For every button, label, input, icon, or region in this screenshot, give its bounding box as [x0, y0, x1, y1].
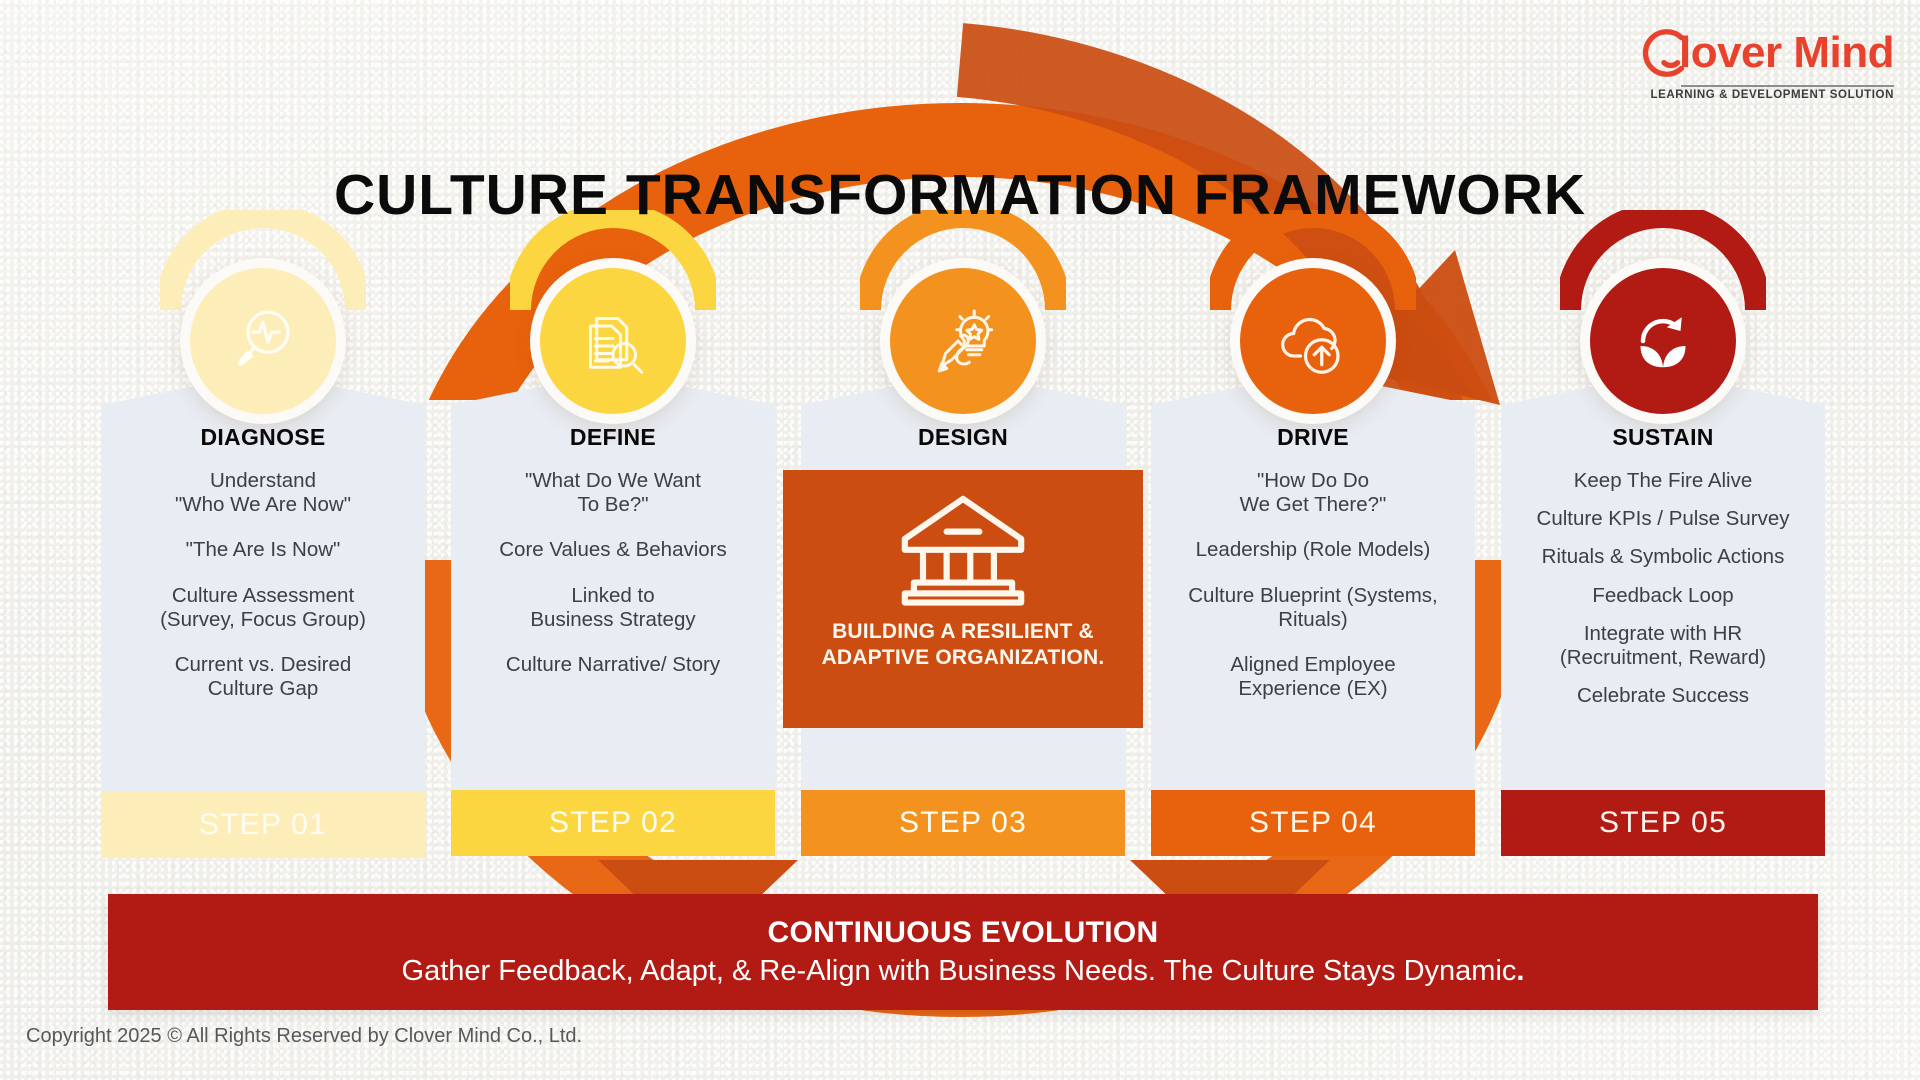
document-search-icon — [540, 268, 686, 414]
bullet-item: Culture KPIs / Pulse Survey — [1515, 507, 1811, 531]
bullet-item: Linked to Business Strategy — [465, 584, 761, 632]
bullet-item: "The Are Is Now" — [115, 538, 411, 562]
step-label-bar-1[interactable]: STEP 01 — [101, 792, 425, 858]
step-label-bar-4[interactable]: STEP 04 — [1151, 790, 1475, 856]
bullet-item: Understand "Who We Are Now" — [115, 469, 411, 517]
step-bullets: "How Do Do We Get There?"Leadership (Rol… — [1151, 469, 1475, 701]
continuous-evolution-banner: CONTINUOUS EVOLUTION Gather Feedback, Ad… — [108, 894, 1818, 1010]
clover-c-icon — [1635, 24, 1693, 82]
step-heading: DIAGNOSE — [101, 424, 425, 451]
step-heading: DEFINE — [451, 424, 775, 451]
bullet-item: Culture Narrative/ Story — [465, 653, 761, 677]
logo-wordmark: lover Mind — [1679, 31, 1894, 75]
step-icon-circle-3[interactable] — [880, 258, 1046, 424]
banner-subtitle-text: Gather Feedback, Adapt, & Re-Align with … — [402, 955, 1517, 987]
bullet-item: Culture Blueprint (Systems, Rituals) — [1165, 584, 1461, 632]
step-label-bar-2[interactable]: STEP 02 — [451, 790, 775, 856]
bullet-item: Feedback Loop — [1515, 584, 1811, 608]
bullet-item: Current vs. Desired Culture Gap — [115, 653, 411, 701]
bullet-item: Celebrate Success — [1515, 684, 1811, 708]
step-icon-circle-2[interactable] — [530, 258, 696, 424]
bullet-item: Rituals & Symbolic Actions — [1515, 545, 1811, 569]
logo-tagline: LEARNING & DEVELOPMENT SOLUTION — [1635, 89, 1894, 101]
banner-subtitle-period: . — [1516, 955, 1524, 987]
brand-logo: lover Mind LEARNING & DEVELOPMENT SOLUTI… — [1635, 24, 1894, 101]
infographic-canvas: CULTURE TRANSFORMATION FRAMEWORK lover M… — [0, 0, 1920, 1080]
magnifier-pulse-icon — [190, 268, 336, 414]
pencil-lightbulb-icon — [890, 268, 1036, 414]
design-highlight-box: BUILDING A RESILIENT & ADAPTIVE ORGANIZA… — [783, 470, 1143, 728]
logo-divider — [1681, 85, 1894, 87]
step-card-5[interactable]: SUSTAINKeep The Fire AliveCulture KPIs /… — [1501, 372, 1825, 836]
recycle-leaf-icon — [1590, 268, 1736, 414]
step-label-bar-5[interactable]: STEP 05 — [1501, 790, 1825, 856]
bullet-item: Core Values & Behaviors — [465, 538, 761, 562]
step-label-bar-3[interactable]: STEP 03 — [801, 790, 1125, 856]
banner-title: CONTINUOUS EVOLUTION — [767, 916, 1158, 949]
banner-subtitle: Gather Feedback, Adapt, & Re-Align with … — [402, 955, 1525, 988]
step-icon-circle-5[interactable] — [1580, 258, 1746, 424]
step-heading: DRIVE — [1151, 424, 1475, 451]
step-bullets: Understand "Who We Are Now""The Are Is N… — [101, 469, 425, 701]
bullet-item: Keep The Fire Alive — [1515, 469, 1811, 493]
step-heading: DESIGN — [801, 424, 1125, 451]
bullet-item: Aligned Employee Experience (EX) — [1165, 653, 1461, 701]
step-heading: SUSTAIN — [1501, 424, 1825, 451]
step-card-2[interactable]: DEFINE"What Do We Want To Be?"Core Value… — [451, 372, 775, 836]
bullet-item: Leadership (Role Models) — [1165, 538, 1461, 562]
step-card-1[interactable]: DIAGNOSEUnderstand "Who We Are Now""The … — [101, 372, 425, 838]
step-bullets: Keep The Fire AliveCulture KPIs / Pulse … — [1501, 469, 1825, 708]
bullet-item: Integrate with HR (Recruitment, Reward) — [1515, 622, 1811, 670]
step-icon-circle-4[interactable] — [1230, 258, 1396, 424]
institution-bank-icon — [889, 470, 1037, 613]
copyright-text: Copyright 2025 © All Rights Reserved by … — [26, 1025, 582, 1048]
step-card-4[interactable]: DRIVE"How Do Do We Get There?"Leadership… — [1151, 372, 1475, 836]
design-highlight-text: BUILDING A RESILIENT & ADAPTIVE ORGANIZA… — [783, 613, 1143, 688]
bullet-item: "How Do Do We Get There?" — [1165, 469, 1461, 517]
page-title: CULTURE TRANSFORMATION FRAMEWORK — [0, 162, 1920, 228]
bullet-item: "What Do We Want To Be?" — [465, 469, 761, 517]
step-bullets: "What Do We Want To Be?"Core Values & Be… — [451, 469, 775, 677]
step-icon-circle-1[interactable] — [180, 258, 346, 424]
cloud-upload-icon — [1240, 268, 1386, 414]
bullet-item: Culture Assessment (Survey, Focus Group) — [115, 584, 411, 632]
